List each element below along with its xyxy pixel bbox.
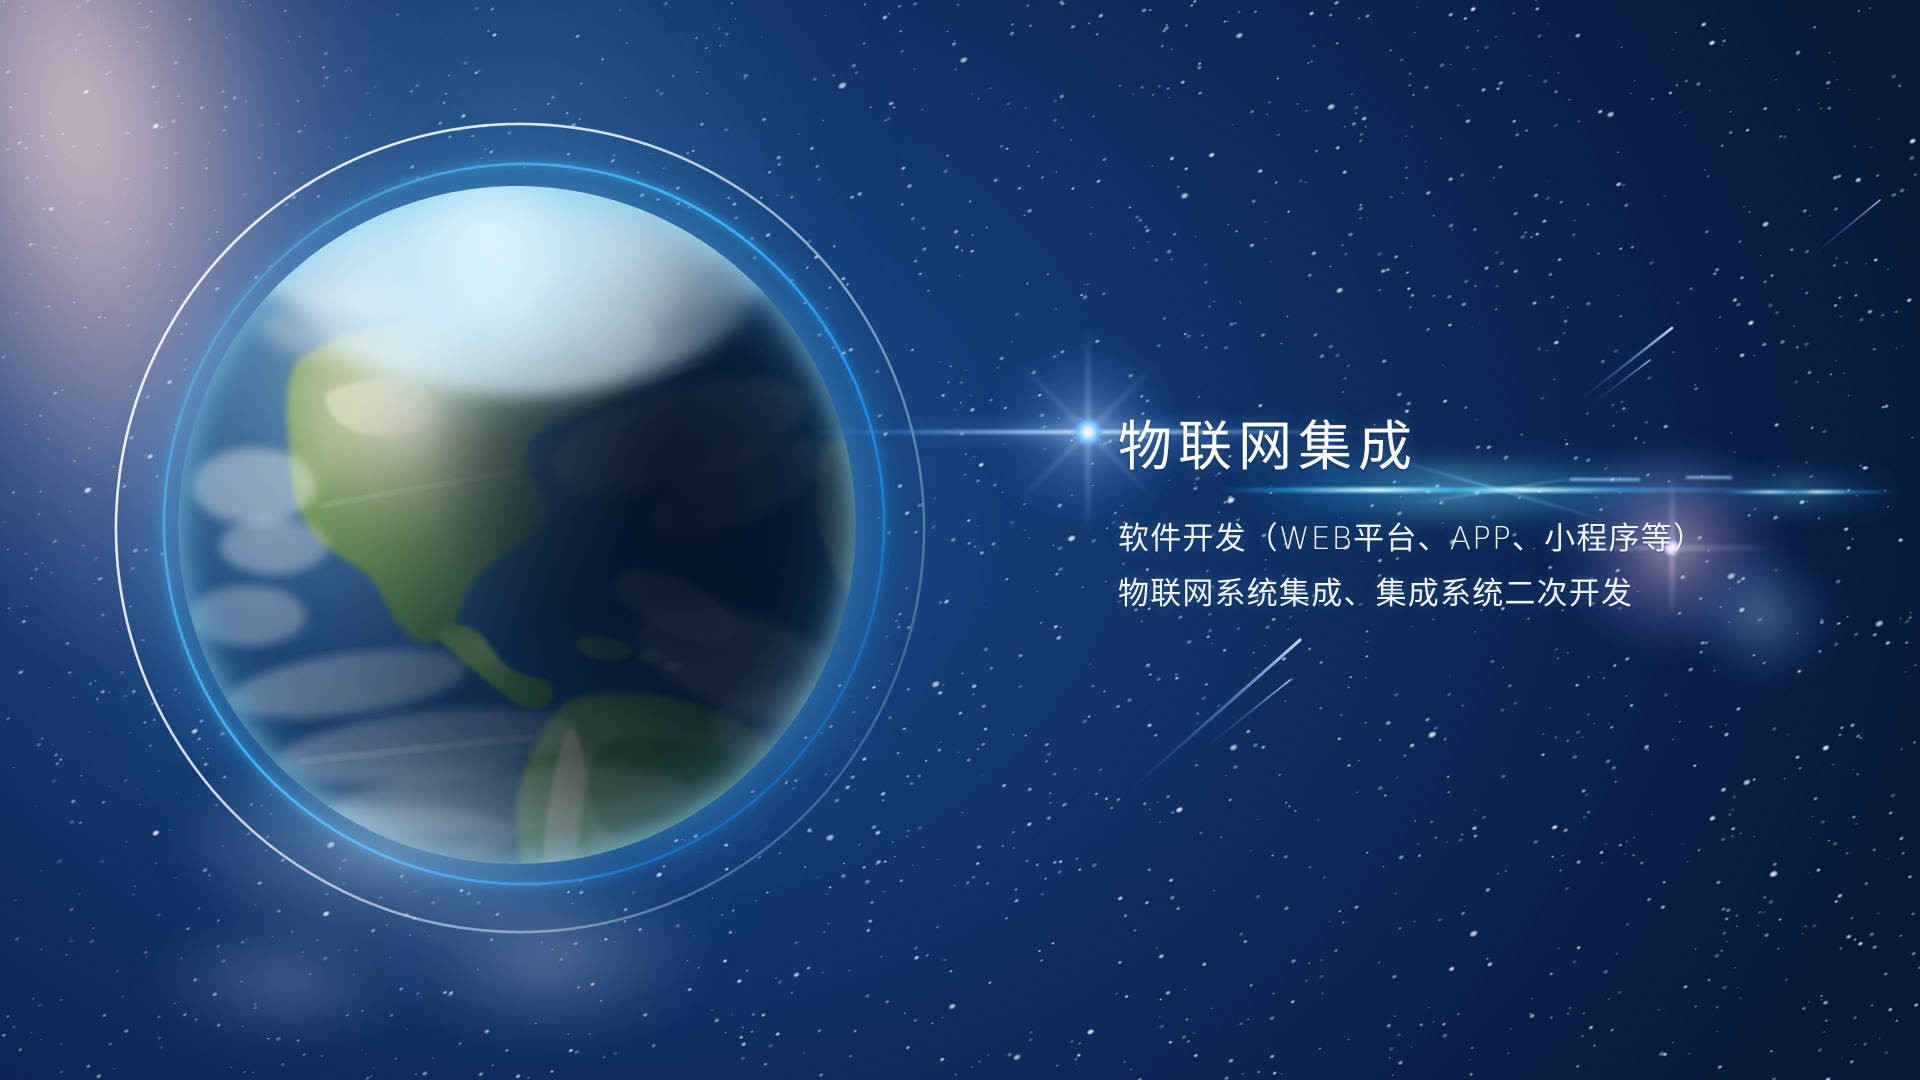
subtitle-line-1: 软件开发（WEB平台、APP、小程序等） (1118, 524, 1878, 555)
page-title: 物联网集成 (1118, 416, 1878, 478)
subtitle-line-2: 物联网系统集成、集成系统二次开发 (1118, 579, 1878, 610)
cloud-mist-below-globe (110, 720, 810, 1080)
banner-text-block: 物联网集成 软件开发（WEB平台、APP、小程序等） 物联网系统集成、集成系统二… (1118, 416, 1878, 610)
banner-stage: 物联网集成 软件开发（WEB平台、APP、小程序等） 物联网系统集成、集成系统二… (0, 0, 1920, 1080)
